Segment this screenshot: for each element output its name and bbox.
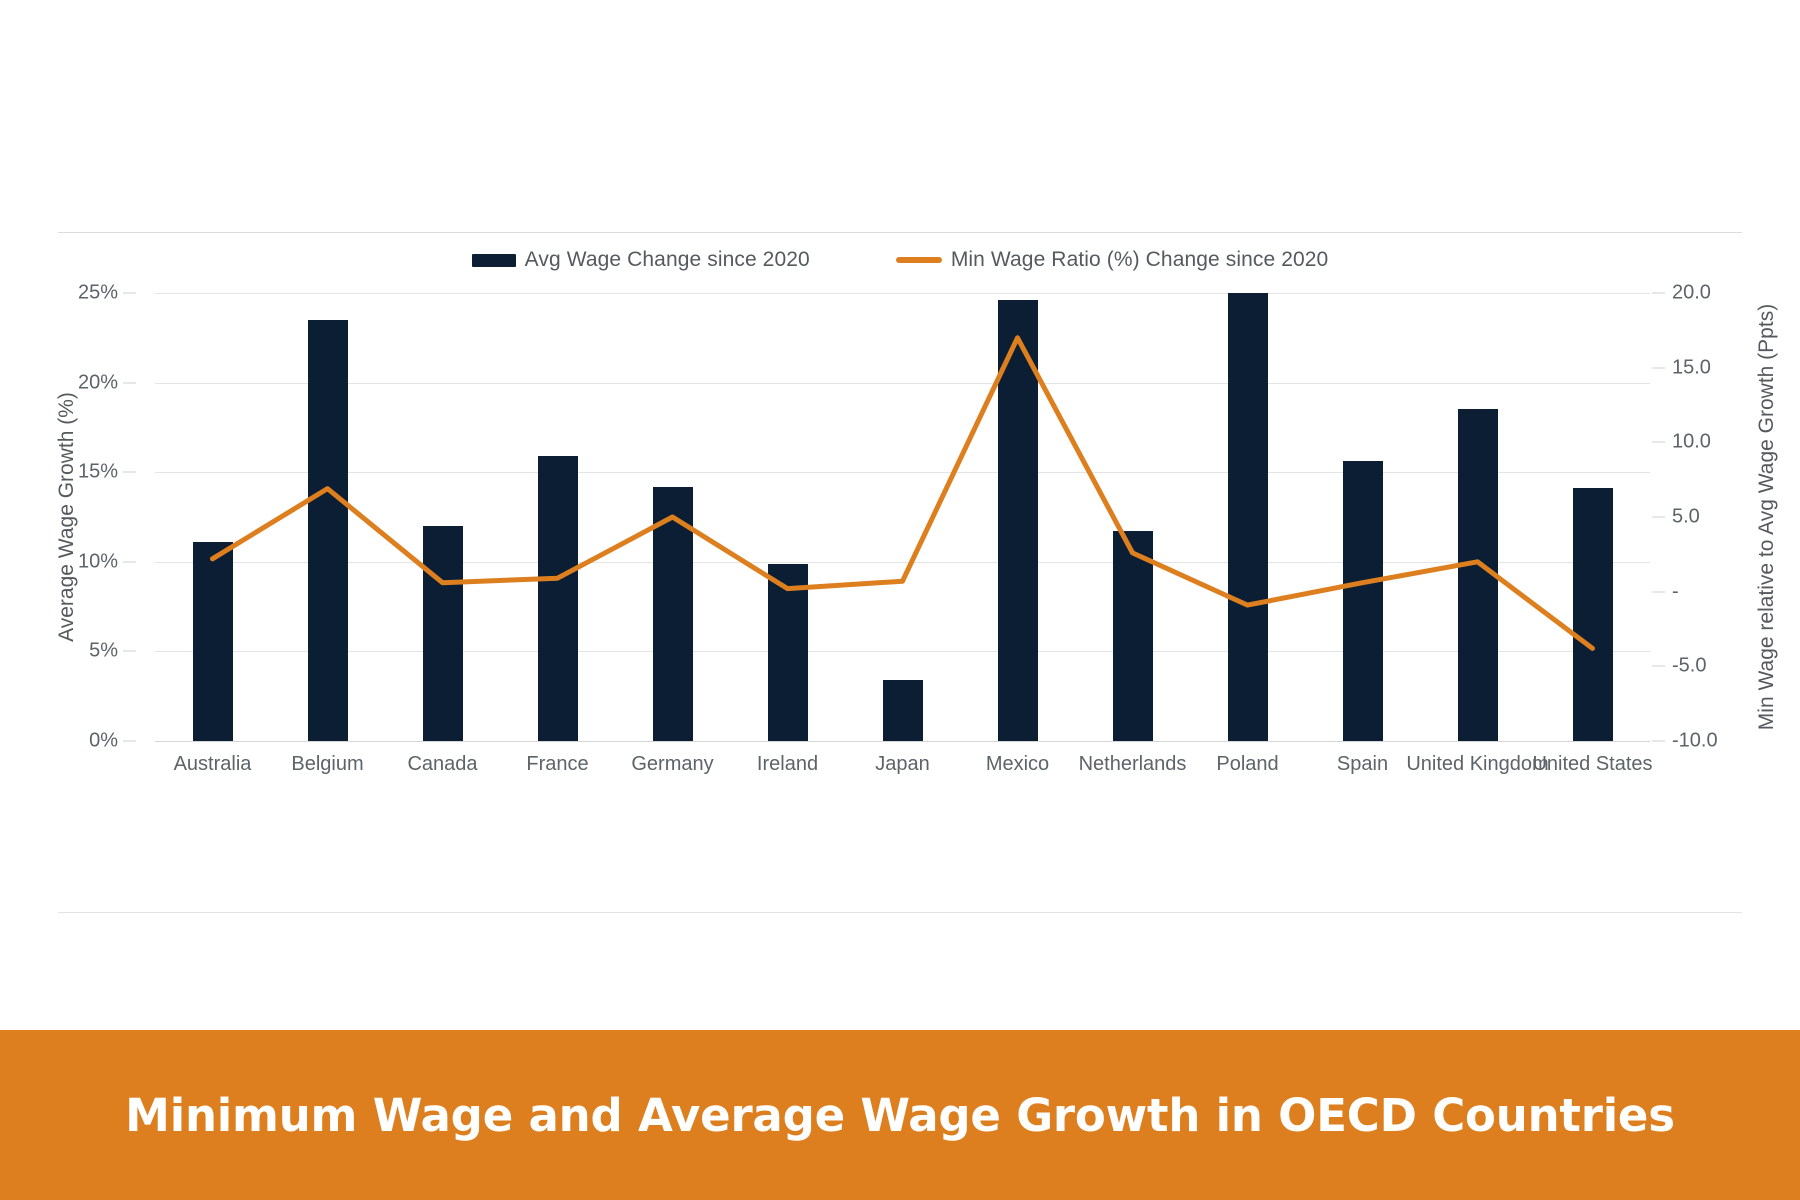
y-tick-label-right: -5.0 [1672,655,1706,678]
y-tick-mark-right [1652,442,1665,443]
legend-label-bar-series: Avg Wage Change since 2020 [525,248,810,272]
y-tick-label-right: 15.0 [1672,356,1711,379]
line-series-overlay [155,293,1650,741]
y-tick-mark-right [1652,367,1665,368]
y-axis-ticks-left: 0%5%10%15%20%25% [0,293,140,741]
y-tick-label-left: 0% [89,730,118,753]
y-tick-label-right: -10.0 [1672,730,1718,753]
title-banner: Minimum Wage and Average Wage Growth in … [0,1030,1800,1200]
y-axis-ticks-right: -10.0-5.0-5.010.015.020.0 [1650,293,1760,741]
y-tick-label-left: 15% [78,461,118,484]
legend-item-line-series[interactable]: Min Wage Ratio (%) Change since 2020 [896,248,1329,272]
y-tick-mark-right [1652,666,1665,667]
bar-swatch-icon [472,254,516,267]
gridline [155,741,1650,742]
y-tick-label-left: 25% [78,282,118,305]
y-tick-mark-left [123,741,136,742]
x-axis-labels: AustraliaBelgiumCanadaFranceGermanyIrela… [155,752,1650,822]
y-tick-label-right: 10.0 [1672,431,1711,454]
y-tick-mark-right [1652,517,1665,518]
y-tick-label-left: 20% [78,371,118,394]
y-tick-mark-left [123,293,136,294]
bottom-divider [58,912,1742,913]
y-tick-label-right: - [1672,580,1679,603]
y-tick-mark-left [123,382,136,383]
legend-label-line-series: Min Wage Ratio (%) Change since 2020 [951,248,1329,272]
y-tick-label-left: 10% [78,550,118,573]
y-tick-mark-left [123,472,136,473]
x-tick-label-united-states: United States [1518,752,1668,776]
y-tick-mark-left [123,561,136,562]
y-tick-label-right: 20.0 [1672,282,1711,305]
y-tick-mark-right [1652,293,1665,294]
y-tick-mark-right [1652,591,1665,592]
chart-canvas: Avg Wage Change since 2020 Min Wage Rati… [0,0,1800,1030]
plot-area [155,293,1650,741]
legend-item-bar-series[interactable]: Avg Wage Change since 2020 [472,248,810,272]
line-swatch-icon [896,257,942,263]
y-tick-mark-left [123,651,136,652]
y-tick-label-right: 5.0 [1672,506,1700,529]
chart-legend: Avg Wage Change since 2020 Min Wage Rati… [0,248,1800,272]
y-tick-label-left: 5% [89,640,118,663]
page-title: Minimum Wage and Average Wage Growth in … [125,1089,1675,1142]
line-series-path [213,338,1593,649]
top-divider [58,232,1742,233]
chart-page: Avg Wage Change since 2020 Min Wage Rati… [0,0,1800,1200]
y-tick-mark-right [1652,741,1665,742]
